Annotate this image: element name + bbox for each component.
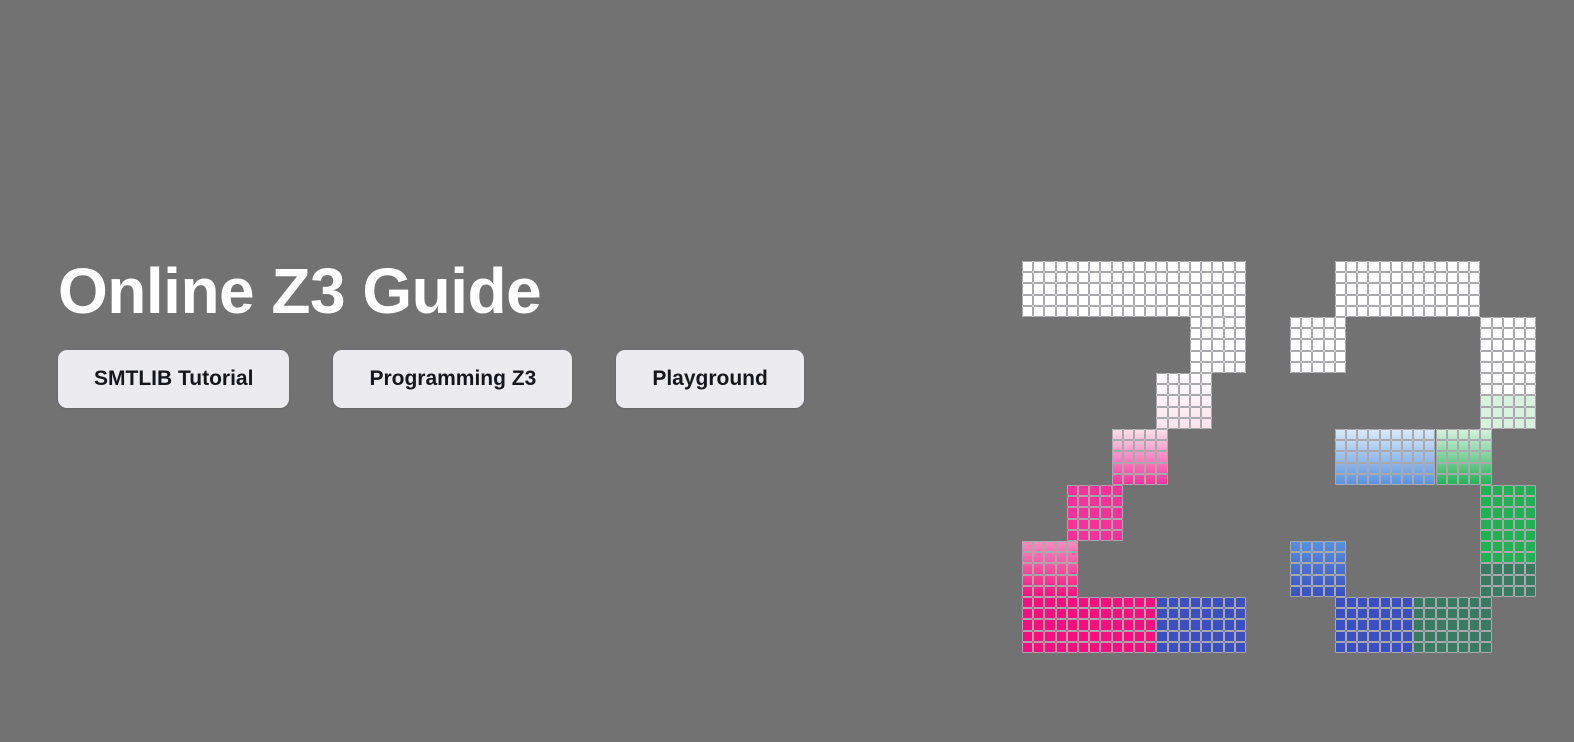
- pixel-cell: [1145, 463, 1156, 474]
- pixel-cell: [1469, 608, 1480, 619]
- pixel-cell: [1335, 283, 1346, 294]
- pixel-cell: [1301, 552, 1312, 563]
- pixel-cell: [1056, 272, 1067, 283]
- pixel-cell: [1056, 586, 1067, 597]
- pixel-block: [1156, 373, 1212, 429]
- pixel-cell: [1469, 642, 1480, 653]
- pixel-cell: [1514, 496, 1525, 507]
- pixel-cell: [1514, 339, 1525, 350]
- pixel-cell: [1413, 463, 1424, 474]
- pixel-cell: [1413, 451, 1424, 462]
- pixel-cell: [1156, 261, 1167, 272]
- pixel-cell: [1480, 339, 1491, 350]
- pixel-cell: [1402, 463, 1413, 474]
- pixel-cell: [1436, 429, 1447, 440]
- pixel-cell: [1168, 418, 1179, 429]
- pixel-cell: [1480, 619, 1491, 630]
- pixel-cell: [1335, 451, 1346, 462]
- pixel-cell: [1380, 440, 1391, 451]
- pixel-cell: [1078, 608, 1089, 619]
- pixel-cell: [1123, 463, 1134, 474]
- pixel-cell: [1458, 642, 1469, 653]
- pixel-cell: [1044, 642, 1055, 653]
- pixel-cell: [1413, 429, 1424, 440]
- pixel-cell: [1424, 440, 1435, 451]
- pixel-cell: [1056, 563, 1067, 574]
- pixel-cell: [1167, 283, 1178, 294]
- pixel-cell: [1391, 261, 1402, 272]
- pixel-cell: [1033, 283, 1044, 294]
- pixel-cell: [1112, 295, 1123, 306]
- pixel-cell: [1435, 261, 1446, 272]
- pixel-cell: [1503, 373, 1514, 384]
- pixel-cell: [1402, 619, 1413, 630]
- pixel-cell: [1447, 474, 1458, 485]
- pixel-cell: [1112, 642, 1123, 653]
- pixel-cell: [1190, 631, 1201, 642]
- pixel-cell: [1089, 272, 1100, 283]
- pixel-cell: [1201, 261, 1212, 272]
- pixel-cell: [1514, 485, 1525, 496]
- pixel-cell: [1089, 507, 1100, 518]
- pixel-cell: [1514, 317, 1525, 328]
- pixel-cell: [1179, 295, 1190, 306]
- pixel-cell: [1424, 619, 1435, 630]
- pixel-cell: [1480, 485, 1491, 496]
- pixel-cell: [1447, 597, 1458, 608]
- pixel-cell: [1424, 261, 1435, 272]
- pixel-cell: [1100, 496, 1111, 507]
- pixel-cell: [1168, 373, 1179, 384]
- pixel-cell: [1235, 295, 1246, 306]
- pixel-cell: [1469, 429, 1480, 440]
- pixel-cell: [1123, 295, 1134, 306]
- pixel-cell: [1346, 474, 1357, 485]
- pixel-cell: [1201, 339, 1212, 350]
- pixel-cell: [1503, 530, 1514, 541]
- pixel-cell: [1112, 631, 1123, 642]
- pixel-cell: [1145, 306, 1156, 317]
- pixel-cell: [1480, 440, 1491, 451]
- pixel-cell: [1156, 597, 1167, 608]
- pixel-cell: [1391, 608, 1402, 619]
- pixel-cell: [1056, 306, 1067, 317]
- pixel-cell: [1156, 272, 1167, 283]
- pixel-cell: [1435, 306, 1446, 317]
- pixel-cell: [1514, 552, 1525, 563]
- pixel-cell: [1368, 306, 1379, 317]
- pixel-cell: [1368, 429, 1379, 440]
- pixel-cell: [1503, 575, 1514, 586]
- playground-button[interactable]: Playground: [616, 350, 804, 408]
- pixel-cell: [1503, 496, 1514, 507]
- pixel-cell: [1424, 597, 1435, 608]
- pixel-cell: [1413, 608, 1424, 619]
- pixel-cell: [1413, 306, 1424, 317]
- pixel-cell: [1033, 597, 1044, 608]
- pixel-cell: [1402, 631, 1413, 642]
- pixel-cell: [1145, 608, 1156, 619]
- pixel-cell: [1044, 586, 1055, 597]
- pixel-cell: [1212, 283, 1223, 294]
- pixel-cell: [1067, 306, 1078, 317]
- pixel-cell: [1346, 429, 1357, 440]
- pixel-cell: [1424, 429, 1435, 440]
- pixel-cell: [1380, 631, 1391, 642]
- pixel-cell: [1078, 283, 1089, 294]
- pixel-cell: [1447, 451, 1458, 462]
- pixel-cell: [1335, 631, 1346, 642]
- page-title: Online Z3 Guide: [58, 258, 958, 325]
- pixel-cell: [1167, 295, 1178, 306]
- pixel-cell: [1480, 530, 1491, 541]
- pixel-cell: [1022, 619, 1033, 630]
- pixel-cell: [1525, 317, 1536, 328]
- pixel-cell: [1179, 619, 1190, 630]
- pixel-cell: [1235, 362, 1246, 373]
- pixel-cell: [1100, 530, 1111, 541]
- pixel-block: [1413, 597, 1491, 653]
- pixel-cell: [1078, 642, 1089, 653]
- pixel-cell: [1022, 283, 1033, 294]
- pixel-cell: [1514, 418, 1525, 429]
- pixel-cell: [1346, 463, 1357, 474]
- pixel-cell: [1335, 586, 1346, 597]
- pixel-cell: [1056, 597, 1067, 608]
- pixel-cell: [1145, 440, 1156, 451]
- pixel-cell: [1435, 283, 1446, 294]
- pixel-cell: [1469, 261, 1480, 272]
- pixel-cell: [1391, 440, 1402, 451]
- pixel-cell: [1492, 563, 1503, 574]
- pixel-cell: [1346, 608, 1357, 619]
- pixel-cell: [1201, 295, 1212, 306]
- pixel-cell: [1123, 597, 1134, 608]
- pixel-cell: [1156, 373, 1167, 384]
- pixel-cell: [1480, 642, 1491, 653]
- pixel-cell: [1179, 642, 1190, 653]
- pixel-cell: [1033, 619, 1044, 630]
- pixel-cell: [1168, 619, 1179, 630]
- pixel-cell: [1190, 418, 1201, 429]
- pixel-cell: [1224, 597, 1235, 608]
- pixel-cell: [1391, 474, 1402, 485]
- pixel-cell: [1235, 261, 1246, 272]
- pixel-cell: [1391, 642, 1402, 653]
- pixel-cell: [1224, 642, 1235, 653]
- pixel-cell: [1067, 496, 1078, 507]
- pixel-cell: [1235, 619, 1246, 630]
- pixel-cell: [1212, 317, 1223, 328]
- pixel-cell: [1480, 563, 1491, 574]
- pixel-cell: [1312, 563, 1323, 574]
- pixel-cell: [1067, 272, 1078, 283]
- pixel-cell: [1179, 407, 1190, 418]
- pixel-cell: [1100, 619, 1111, 630]
- pixel-cell: [1022, 261, 1033, 272]
- pixel-cell: [1525, 563, 1536, 574]
- pixel-cell: [1167, 272, 1178, 283]
- pixel-cell: [1022, 541, 1033, 552]
- pixel-cell: [1179, 608, 1190, 619]
- pixel-cell: [1134, 440, 1145, 451]
- pixel-cell: [1357, 597, 1368, 608]
- pixel-cell: [1212, 631, 1223, 642]
- pixel-cell: [1290, 317, 1301, 328]
- pixel-cell: [1056, 619, 1067, 630]
- pixel-cell: [1402, 597, 1413, 608]
- pixel-cell: [1492, 395, 1503, 406]
- pixel-cell: [1380, 474, 1391, 485]
- pixel-cell: [1022, 306, 1033, 317]
- pixel-cell: [1056, 283, 1067, 294]
- programming-z3-button[interactable]: Programming Z3: [333, 350, 572, 408]
- pixel-cell: [1391, 429, 1402, 440]
- pixel-cell: [1503, 362, 1514, 373]
- pixel-cell: [1190, 362, 1201, 373]
- pixel-cell: [1335, 351, 1346, 362]
- pixel-cell: [1391, 619, 1402, 630]
- pixel-cell: [1224, 339, 1235, 350]
- pixel-cell: [1335, 474, 1346, 485]
- pixel-cell: [1056, 541, 1067, 552]
- pixel-cell: [1335, 619, 1346, 630]
- pixel-cell: [1212, 351, 1223, 362]
- pixel-cell: [1368, 440, 1379, 451]
- pixel-cell: [1335, 317, 1346, 328]
- pixel-cell: [1044, 272, 1055, 283]
- pixel-cell: [1458, 295, 1469, 306]
- pixel-cell: [1458, 440, 1469, 451]
- pixel-cell: [1503, 328, 1514, 339]
- pixel-cell: [1212, 642, 1223, 653]
- pixel-cell: [1022, 597, 1033, 608]
- pixel-cell: [1100, 272, 1111, 283]
- pixel-block: [1335, 429, 1436, 485]
- pixel-cell: [1145, 642, 1156, 653]
- pixel-cell: [1100, 507, 1111, 518]
- pixel-cell: [1335, 642, 1346, 653]
- pixel-cell: [1134, 429, 1145, 440]
- pixel-cell: [1224, 351, 1235, 362]
- pixel-cell: [1112, 619, 1123, 630]
- pixel-cell: [1447, 261, 1458, 272]
- pixel-cell: [1235, 608, 1246, 619]
- pixel-cell: [1402, 306, 1413, 317]
- pixel-cell: [1525, 519, 1536, 530]
- pixel-cell: [1480, 384, 1491, 395]
- pixel-cell: [1402, 261, 1413, 272]
- pixel-cell: [1447, 463, 1458, 474]
- pixel-cell: [1168, 384, 1179, 395]
- pixel-cell: [1346, 451, 1357, 462]
- pixel-cell: [1469, 440, 1480, 451]
- hero-section: Online Z3 Guide SMTLIB Tutorial Programm…: [0, 0, 1574, 742]
- pixel-cell: [1480, 395, 1491, 406]
- pixel-cell: [1078, 530, 1089, 541]
- pixel-cell: [1145, 261, 1156, 272]
- pixel-cell: [1424, 272, 1435, 283]
- pixel-cell: [1190, 395, 1201, 406]
- pixel-cell: [1480, 575, 1491, 586]
- pixel-cell: [1145, 597, 1156, 608]
- pixel-cell: [1123, 474, 1134, 485]
- pixel-cell: [1145, 451, 1156, 462]
- pixel-cell: [1469, 619, 1480, 630]
- pixel-cell: [1324, 552, 1335, 563]
- pixel-cell: [1056, 295, 1067, 306]
- pixel-cell: [1402, 474, 1413, 485]
- pixel-cell: [1290, 351, 1301, 362]
- pixel-cell: [1224, 608, 1235, 619]
- pixel-cell: [1525, 586, 1536, 597]
- pixel-cell: [1492, 373, 1503, 384]
- pixel-cell: [1514, 351, 1525, 362]
- pixel-cell: [1447, 619, 1458, 630]
- pixel-cell: [1492, 575, 1503, 586]
- pixel-cell: [1156, 283, 1167, 294]
- pixel-cell: [1480, 474, 1491, 485]
- pixel-cell: [1301, 541, 1312, 552]
- pixel-cell: [1044, 261, 1055, 272]
- pixel-cell: [1391, 283, 1402, 294]
- pixel-cell: [1312, 351, 1323, 362]
- pixel-cell: [1424, 306, 1435, 317]
- pixel-cell: [1301, 351, 1312, 362]
- pixel-cell: [1067, 507, 1078, 518]
- pixel-cell: [1224, 317, 1235, 328]
- pixel-cell: [1492, 407, 1503, 418]
- pixel-cell: [1458, 474, 1469, 485]
- pixel-cell: [1100, 295, 1111, 306]
- pixel-cell: [1100, 283, 1111, 294]
- pixel-cell: [1480, 552, 1491, 563]
- pixel-cell: [1067, 608, 1078, 619]
- pixel-cell: [1469, 451, 1480, 462]
- pixel-cell: [1492, 362, 1503, 373]
- pixel-block: [1480, 563, 1536, 597]
- pixel-cell: [1201, 418, 1212, 429]
- pixel-cell: [1380, 597, 1391, 608]
- pixel-cell: [1357, 306, 1368, 317]
- pixel-cell: [1368, 295, 1379, 306]
- smtlib-tutorial-button[interactable]: SMTLIB Tutorial: [58, 350, 289, 408]
- pixel-cell: [1514, 586, 1525, 597]
- pixel-cell: [1324, 351, 1335, 362]
- pixel-cell: [1156, 407, 1167, 418]
- pixel-cell: [1380, 619, 1391, 630]
- pixel-cell: [1235, 272, 1246, 283]
- pixel-cell: [1357, 295, 1368, 306]
- pixel-cell: [1480, 429, 1491, 440]
- pixel-cell: [1492, 496, 1503, 507]
- pixel-cell: [1458, 272, 1469, 283]
- pixel-cell: [1525, 552, 1536, 563]
- pixel-cell: [1312, 362, 1323, 373]
- pixel-cell: [1301, 328, 1312, 339]
- pixel-cell: [1380, 642, 1391, 653]
- pixel-cell: [1033, 586, 1044, 597]
- pixel-cell: [1190, 608, 1201, 619]
- pixel-cell: [1100, 597, 1111, 608]
- pixel-cell: [1190, 339, 1201, 350]
- pixel-cell: [1067, 597, 1078, 608]
- pixel-cell: [1525, 384, 1536, 395]
- pixel-cell: [1503, 339, 1514, 350]
- pixel-cell: [1402, 440, 1413, 451]
- pixel-cell: [1156, 631, 1167, 642]
- pixel-cell: [1134, 642, 1145, 653]
- pixel-cell: [1123, 429, 1134, 440]
- pixel-cell: [1067, 283, 1078, 294]
- pixel-cell: [1145, 295, 1156, 306]
- pixel-cell: [1112, 519, 1123, 530]
- pixel-cell: [1190, 373, 1201, 384]
- pixel-cell: [1335, 339, 1346, 350]
- pixel-cell: [1346, 619, 1357, 630]
- pixel-cell: [1391, 306, 1402, 317]
- pixel-cell: [1368, 261, 1379, 272]
- pixel-cell: [1413, 261, 1424, 272]
- pixel-cell: [1357, 608, 1368, 619]
- pixel-cell: [1212, 295, 1223, 306]
- pixel-cell: [1224, 631, 1235, 642]
- pixel-cell: [1480, 631, 1491, 642]
- pixel-cell: [1145, 272, 1156, 283]
- pixel-cell: [1134, 451, 1145, 462]
- pixel-cell: [1447, 440, 1458, 451]
- pixel-cell: [1335, 440, 1346, 451]
- pixel-cell: [1357, 451, 1368, 462]
- pixel-cell: [1391, 295, 1402, 306]
- pixel-cell: [1525, 496, 1536, 507]
- pixel-cell: [1089, 283, 1100, 294]
- pixel-cell: [1235, 351, 1246, 362]
- pixel-cell: [1134, 295, 1145, 306]
- pixel-cell: [1201, 317, 1212, 328]
- pixel-cell: [1100, 485, 1111, 496]
- pixel-cell: [1168, 407, 1179, 418]
- pixel-cell: [1469, 283, 1480, 294]
- pixel-cell: [1492, 541, 1503, 552]
- pixel-cell: [1492, 339, 1503, 350]
- pixel-cell: [1290, 575, 1301, 586]
- pixel-cell: [1223, 295, 1234, 306]
- pixel-cell: [1357, 429, 1368, 440]
- pixel-cell: [1424, 295, 1435, 306]
- pixel-cell: [1413, 272, 1424, 283]
- pixel-cell: [1044, 608, 1055, 619]
- pixel-cell: [1179, 597, 1190, 608]
- pixel-cell: [1179, 631, 1190, 642]
- pixel-cell: [1044, 631, 1055, 642]
- pixel-cell: [1235, 306, 1246, 317]
- pixel-cell: [1089, 530, 1100, 541]
- pixel-cell: [1335, 261, 1346, 272]
- pixel-cell: [1525, 362, 1536, 373]
- pixel-cell: [1212, 608, 1223, 619]
- pixel-cell: [1290, 541, 1301, 552]
- pixel-cell: [1290, 328, 1301, 339]
- pixel-block: [1480, 485, 1536, 563]
- pixel-cell: [1179, 306, 1190, 317]
- pixel-block: [1480, 317, 1536, 395]
- pixel-cell: [1190, 261, 1201, 272]
- pixel-cell: [1123, 642, 1134, 653]
- pixel-cell: [1190, 351, 1201, 362]
- pixel-cell: [1413, 474, 1424, 485]
- pixel-cell: [1201, 272, 1212, 283]
